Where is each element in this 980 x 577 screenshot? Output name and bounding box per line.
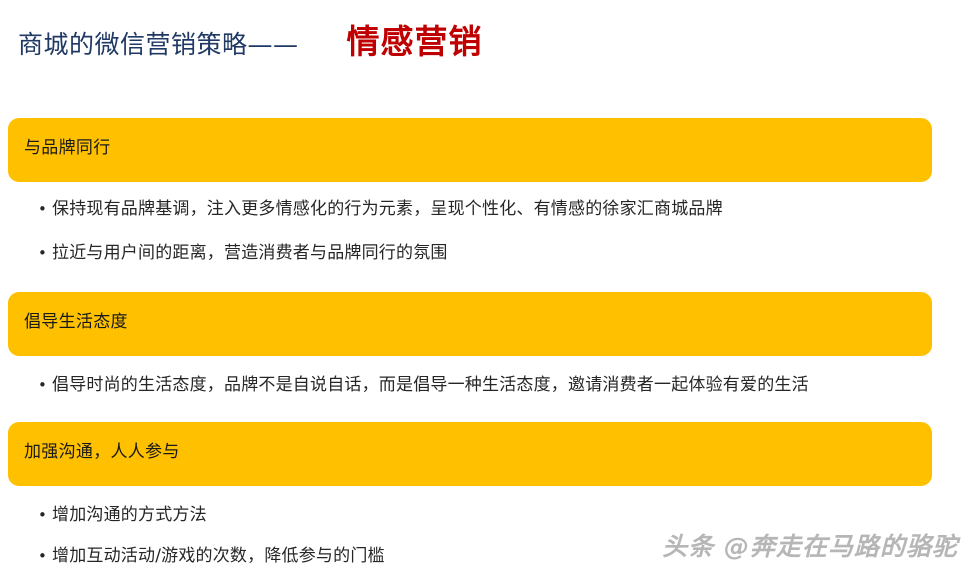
page-title-accent: 情感营销 [347,24,483,60]
section-header-band-3: 加强沟通，人人参与 [8,422,932,486]
content-stack: 与品牌同行 保持现有品牌基调，注入更多情感化的行为元素，呈现个性化、有情感的徐家… [0,118,980,573]
slide-canvas: 商城的微信营销策略—— 情感营销 与品牌同行 保持现有品牌基调，注入更多情感化的… [0,0,980,577]
slide-title: 商城的微信营销策略—— 情感营销 [18,24,962,82]
section-header-band-2: 倡导生活态度 [8,292,932,356]
bullet-list-1: 保持现有品牌基调，注入更多情感化的行为元素，呈现个性化、有情感的徐家汇商城品牌 … [0,182,980,270]
page-title-main: 商城的微信营销策略—— [18,31,299,59]
section-header-label-3: 加强沟通，人人参与 [24,442,180,462]
section-header-band-1: 与品牌同行 [8,118,932,182]
section-brand-companionship: 与品牌同行 保持现有品牌基调，注入更多情感化的行为元素，呈现个性化、有情感的徐家… [0,118,980,270]
bullet-text: 倡导时尚的生活态度，品牌不是自说自话，而是倡导一种生活态度，邀请消费者一起体验有… [52,368,980,402]
watermark: 头条 @奔走在马路的骆驼 [662,527,958,563]
section-life-attitude: 倡导生活态度 倡导时尚的生活态度，品牌不是自说自话，而是倡导一种生活态度，邀请消… [0,292,980,402]
bullet-text: 保持现有品牌基调，注入更多情感化的行为元素，呈现个性化、有情感的徐家汇商城品牌 [52,192,980,226]
section-header-label-1: 与品牌同行 [24,138,111,158]
bullet-list-2: 倡导时尚的生活态度，品牌不是自说自话，而是倡导一种生活态度，邀请消费者一起体验有… [0,356,980,402]
list-item: 倡导时尚的生活态度，品牌不是自说自话，而是倡导一种生活态度，邀请消费者一起体验有… [0,368,980,402]
list-item: 拉近与用户间的距离，营造消费者与品牌同行的氛围 [0,236,980,270]
bullet-text: 拉近与用户间的距离，营造消费者与品牌同行的氛围 [52,236,980,270]
list-item: 保持现有品牌基调，注入更多情感化的行为元素，呈现个性化、有情感的徐家汇商城品牌 [0,192,980,226]
section-header-label-2: 倡导生活态度 [24,312,128,332]
